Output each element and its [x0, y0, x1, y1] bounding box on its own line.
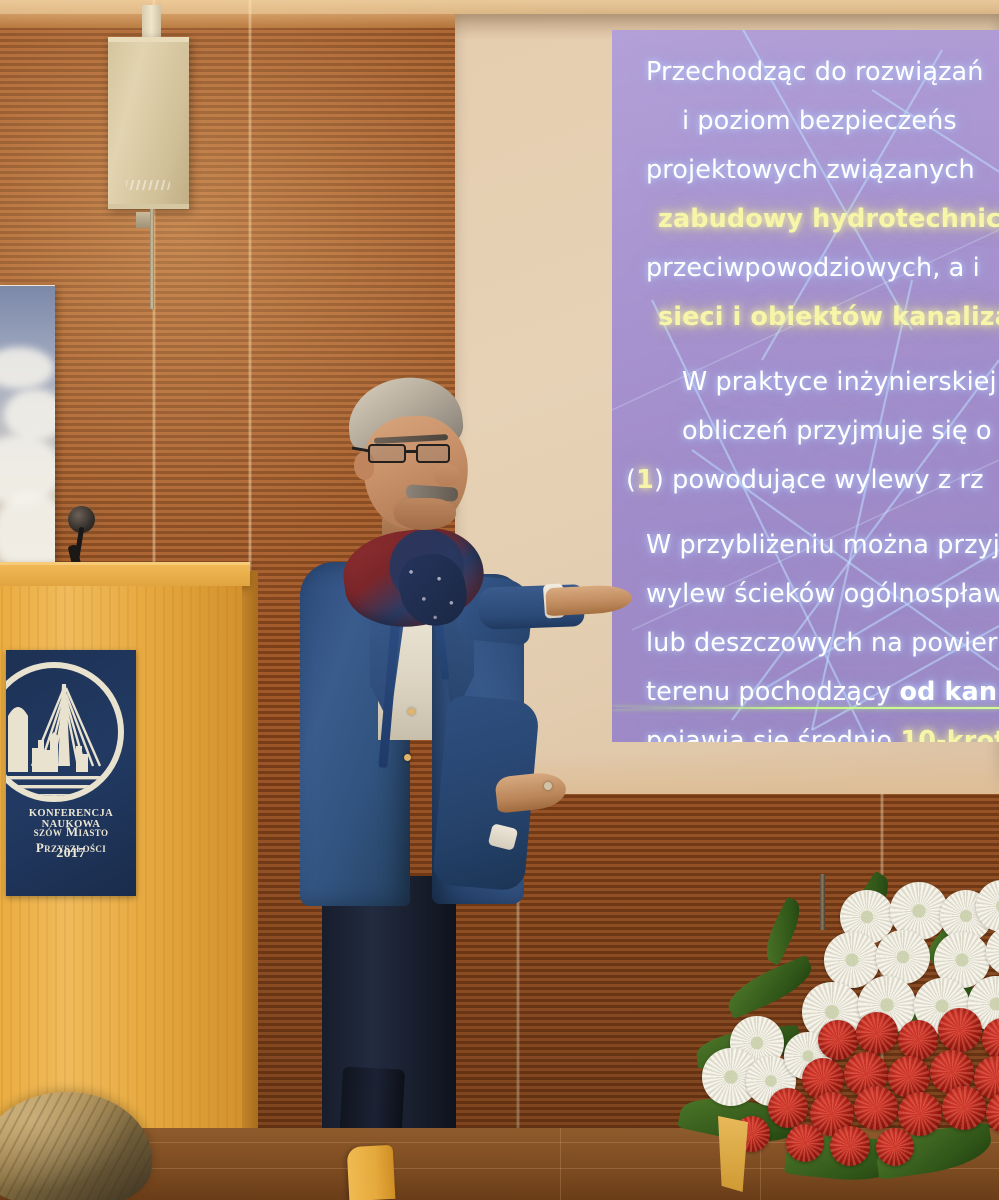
slide-text-run: i poziom bezpieczeńs: [682, 106, 957, 136]
conference-photo-scene: Przechodząc do rozwiązańi poziom bezpiec…: [0, 0, 999, 1200]
slide-text-run: od kan: [900, 677, 998, 707]
conference-logo-plaque: KONFERENCJA NAUKOWA szów Miasto Przyszło…: [6, 650, 136, 896]
podium-side-panel: [242, 571, 258, 1176]
presenter-hand-lower: [494, 770, 567, 813]
projected-slide: Przechodząc do rozwiązańi poziom bezpiec…: [612, 30, 999, 742]
slide-text-run: pojawia się średnio: [646, 726, 900, 742]
slide-text-run: obliczeń przyjmuje się o: [682, 416, 992, 446]
slide-line: przeciwpowodziowych, a i: [612, 244, 999, 293]
flower-ribbon: [718, 1116, 748, 1192]
slide-line: terenu pochodzący od kan: [612, 668, 999, 717]
presenter-nose: [434, 464, 460, 486]
slide-line: obliczeń przyjmuje się o: [612, 407, 999, 456]
slide-body-text: Przechodząc do rozwiązańi poziom bezpiec…: [612, 30, 999, 742]
slide-line: lub deszczowych na powier: [612, 619, 999, 668]
loudspeaker-bracket: [142, 5, 161, 37]
slide-text-run: 1: [636, 465, 654, 495]
presenter-ring: [544, 782, 552, 790]
glasses-lens-left: [368, 444, 406, 463]
wooden-chair: [347, 1145, 396, 1200]
plaque-line-3: 2017: [6, 846, 136, 862]
slide-text-run: 10-krotn: [900, 726, 999, 742]
roll-up-banner: [0, 285, 55, 575]
jacket-button: [408, 708, 415, 715]
slide-text-run: lub deszczowych na powier: [646, 628, 998, 658]
presenter: [282, 378, 592, 1200]
slide-text-run: W praktyce inżynierskiej: [682, 367, 997, 397]
slide-text-run: przeciwpowodziowych, a i: [646, 253, 980, 283]
slide-line: W przybliżeniu można przyja: [612, 521, 999, 570]
slide-line: wylew ścieków ogólnospław: [612, 570, 999, 619]
slide-line: Przechodząc do rozwiązań: [612, 48, 999, 97]
slide-line: zabudowy hydrotechnicz: [612, 195, 999, 244]
loudspeaker: [108, 37, 189, 209]
loudspeaker-logo-icon: [126, 180, 170, 190]
slide-line: (1) powodujące wylewy z rz: [612, 456, 999, 505]
glasses-icon: [368, 444, 458, 464]
podium-desktop: [0, 562, 250, 586]
jacket-button: [404, 754, 411, 761]
floral-arrangement: [690, 880, 999, 1200]
loudspeaker-pole: [150, 209, 154, 309]
loudspeaker-mount: [136, 212, 151, 228]
slide-text-run: ) powodujące wylewy z rz: [654, 465, 984, 495]
slide-line: sieci i obiektów kanaliza: [612, 293, 999, 342]
slide-line: W praktyce inżynierskiej: [612, 358, 999, 407]
slide-text-run: wylew ścieków ogólnospław: [646, 579, 999, 609]
slide-text-run: (: [626, 465, 636, 495]
slide-line: projektowych związanych: [612, 146, 999, 195]
slide-text-run: Przechodząc do rozwiązań: [646, 57, 984, 87]
slide-line: pojawia się średnio 10-krotn: [612, 717, 999, 742]
slide-line: i poziom bezpieczeńs: [612, 97, 999, 146]
slide-text-run: zabudowy hydrotechnicz: [658, 204, 999, 234]
slide-text-run: projektowych związanych: [646, 155, 975, 185]
slide-text-run: W przybliżeniu można przyja: [646, 530, 999, 560]
banner-top-cap: [0, 285, 55, 286]
slide-text-run: sieci i obiektów kanaliza: [658, 302, 999, 332]
slide-text-run: terenu pochodzący: [646, 677, 900, 707]
glasses-lens-right: [416, 444, 450, 463]
flower-stand-pole: [820, 874, 825, 930]
